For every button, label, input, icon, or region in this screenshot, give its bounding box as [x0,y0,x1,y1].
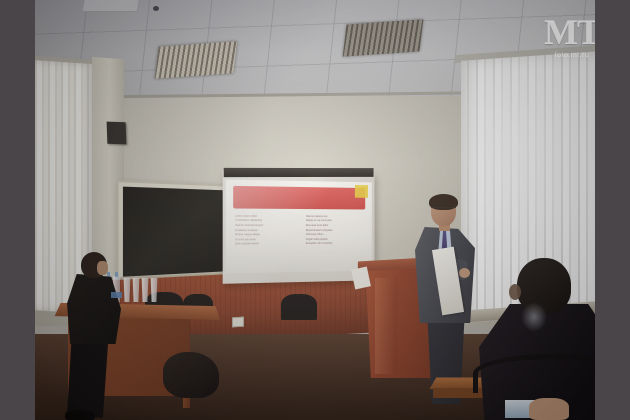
plastic-cup [123,278,131,302]
slide-bullet: Consectetur adipiscing [235,219,298,222]
attendee-hand [529,398,569,420]
slide-column-left: Lorem ipsum dolor Consectetur adipiscing… [235,214,298,270]
slide-bullet: Duis aute irure dolor [306,224,365,227]
attendee-shoe [65,410,95,420]
slide-bullet: Quis nostrud exercit [235,242,298,246]
attendee-device [111,292,122,298]
slide-bullet: Fugiat nulla pariatur [306,237,365,240]
slide-accent-square [355,185,367,198]
letterbox-bar-right [595,0,630,420]
letterbox-bar-left [0,0,35,420]
attendee-highlight [521,302,547,332]
chair [281,294,317,320]
projection-screen-housing [224,168,374,177]
slide-bullet: Excepteur sint occaecat [306,242,365,246]
chair-backrest [473,354,595,393]
wall-outlet [232,317,244,328]
glasses-icon [431,207,456,213]
slide-content: Lorem ipsum dolor Consectetur adipiscing… [226,180,372,274]
slide-bullet: Ullamco laboris nisi [306,215,365,218]
slide-title-banner [234,186,365,209]
attendee-face [97,261,108,275]
floor-bag [163,352,219,398]
projection-screen: Lorem ipsum dolor Consectetur adipiscing… [223,170,375,284]
slide-bullet: Lorem ipsum dolor [235,214,298,218]
slide-bullet: Reprehenderit voluptate [306,228,365,231]
presenter-hand [459,268,470,278]
plastic-cups [123,278,158,302]
ceiling-sensor-icon [153,6,159,11]
slide-bullet: Velit esse cillum [306,233,365,236]
slide-bullet: Sed do eiusmod tempor [235,224,298,227]
wall-speaker-icon [107,122,127,145]
slide-column-right: Ullamco laboris nisi Aliquip ex ea commo… [306,215,365,270]
plastic-cup [150,278,158,302]
slide-bullet: Dolore magna aliqua [235,233,298,236]
attendee-torso [67,274,121,344]
slide-columns: Lorem ipsum dolor Consectetur adipiscing… [235,214,365,270]
ceiling-light-fixture [155,41,238,78]
photo-canvas: Lorem ipsum dolor Consectetur adipiscing… [0,0,630,420]
slide-bullet: Aliquip ex ea commodo [306,219,365,222]
plastic-cup [141,278,149,302]
slide-bullet: Incididunt ut labore [235,229,298,232]
lecture-hall-scene: Lorem ipsum dolor Consectetur adipiscing… [35,0,595,420]
podium-front-panel [375,278,397,374]
ceiling-light-fixture [343,19,424,56]
slide-bullet: Ut enim ad minim [235,238,298,242]
plastic-cup [132,278,140,302]
ceiling-vent [82,0,141,12]
attendee-ear [509,284,521,300]
